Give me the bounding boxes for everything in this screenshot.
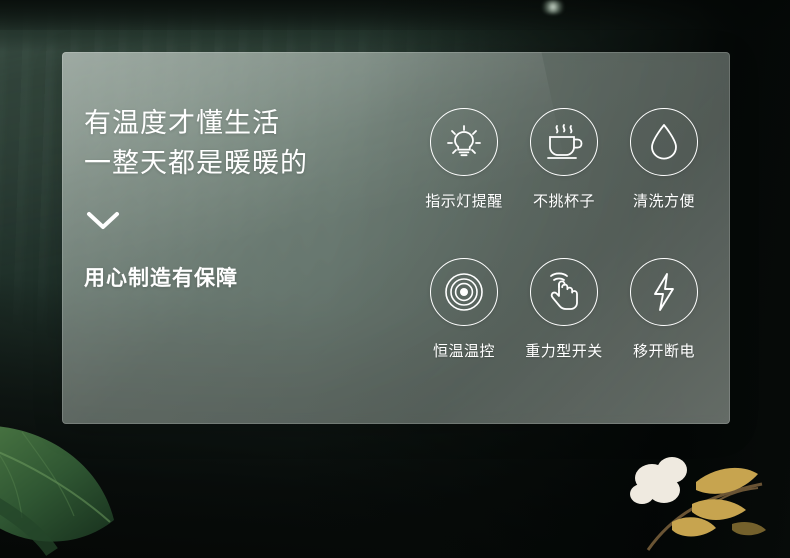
chevron-down-icon [86,210,120,232]
promo-subheadline: 用心制造有保障 [84,262,414,292]
feature-label: 不挑杯子 [533,190,595,211]
cotton-branch-icon [612,438,782,558]
thermostat-rings-icon [430,258,498,326]
feature-label: 指示灯提醒 [425,190,503,211]
feature-item: 清洗方便 [614,108,714,258]
promo-banner: 有温度才懂生活 一整天都是暖暖的 用心制造有保障 [0,0,790,558]
feature-item: 移开断电 [614,258,714,408]
press-hand-icon [530,258,598,326]
feature-grid: 指示灯提醒 不挑杯子 [414,108,714,408]
feature-label: 移开断电 [633,340,695,361]
coffee-cup-icon [530,108,598,176]
headline-line-2: 一整天都是暖暖的 [84,144,414,184]
feature-item: 不挑杯子 [514,108,614,258]
light-glow-icon [540,0,566,14]
feature-label: 清洗方便 [633,190,695,211]
feature-label: 重力型开关 [525,340,603,361]
feature-item: 恒温温控 [414,258,514,408]
feature-item: 重力型开关 [514,258,614,408]
water-drop-icon [630,108,698,176]
glass-panel: 有温度才懂生活 一整天都是暖暖的 用心制造有保障 [62,52,730,424]
promo-headline: 有温度才懂生活 一整天都是暖暖的 [84,104,414,184]
lamp-indicator-icon [430,108,498,176]
feature-item: 指示灯提醒 [414,108,514,258]
lightning-bolt-icon [630,258,698,326]
feature-label: 恒温温控 [433,340,495,361]
promo-text-block: 有温度才懂生活 一整天都是暖暖的 用心制造有保障 [84,104,414,292]
headline-line-1: 有温度才懂生活 [84,104,414,144]
